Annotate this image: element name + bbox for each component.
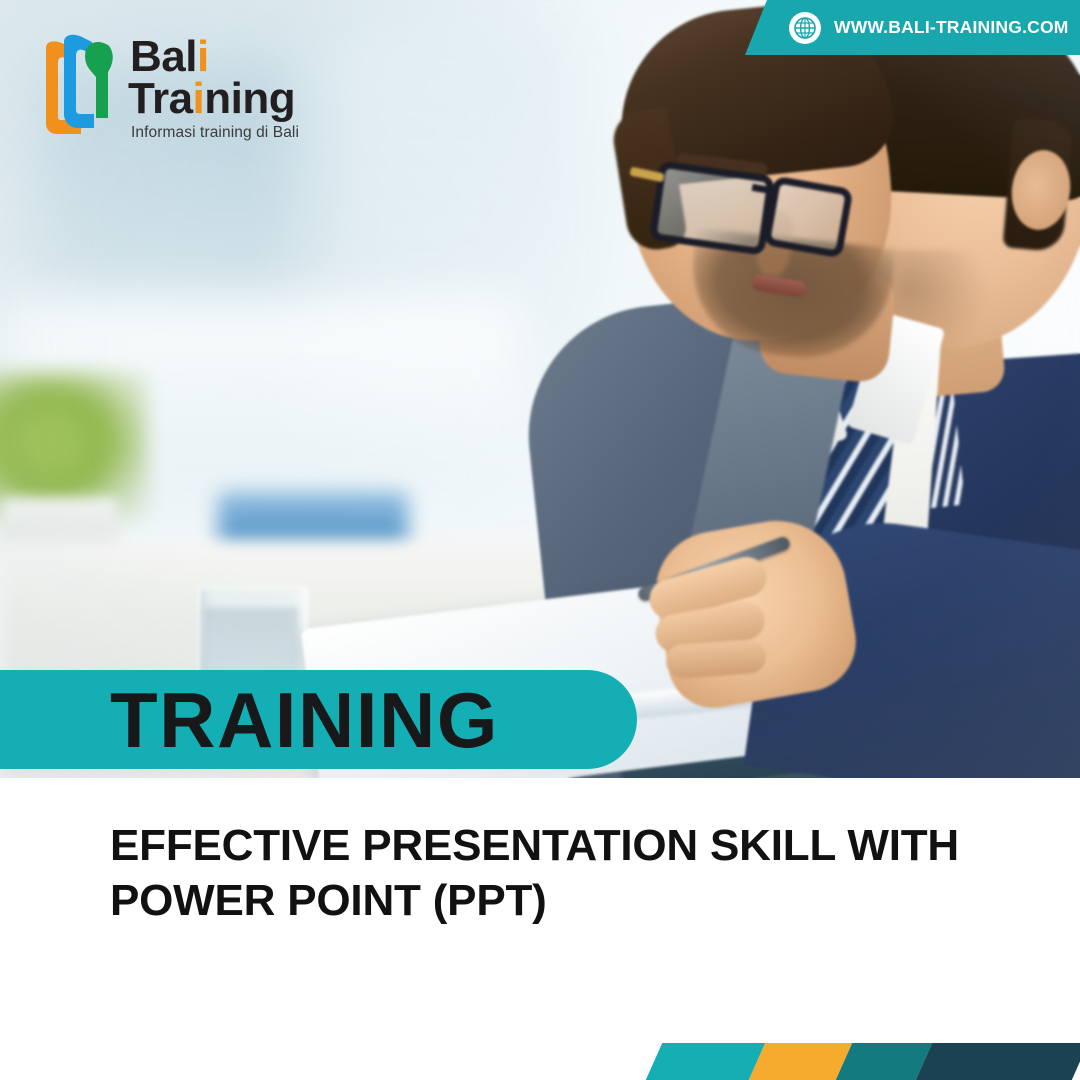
brand-logo[interactable]: Bali Training Informasi training di Bali <box>34 32 299 142</box>
brand-line-1: Bali <box>130 36 299 78</box>
eyeglasses-lens-left <box>649 160 775 255</box>
website-url: WWW.BALI-TRAINING.COM <box>834 17 1069 38</box>
training-poster: WWW.BALI-TRAINING.COM Bali Training Info… <box>0 0 1080 1080</box>
stripe-navy <box>915 1043 1080 1080</box>
globe-icon <box>789 12 821 44</box>
course-title: EFFECTIVE PRESENTATION SKILL WITH POWER … <box>110 818 1040 928</box>
potted-plant-foliage-core <box>8 398 103 493</box>
brand-accent-i-2: i <box>193 74 205 123</box>
bali-training-book-icon <box>34 32 120 140</box>
brand-wordmark: Bali Training Informasi training di Bali <box>128 32 299 142</box>
website-banner[interactable]: WWW.BALI-TRAINING.COM <box>745 0 1080 55</box>
brand-tagline: Informasi training di Bali <box>131 124 299 142</box>
stripe-orange <box>748 1043 851 1080</box>
bottom-stripe-group <box>640 1043 1080 1080</box>
training-badge-label: TRAINING <box>110 681 499 759</box>
finger-ring <box>665 639 767 680</box>
training-badge: TRAINING <box>0 670 637 769</box>
brand-line-2: Training <box>128 78 299 120</box>
water-glass-contents <box>204 608 298 674</box>
stripe-teal <box>646 1043 765 1080</box>
